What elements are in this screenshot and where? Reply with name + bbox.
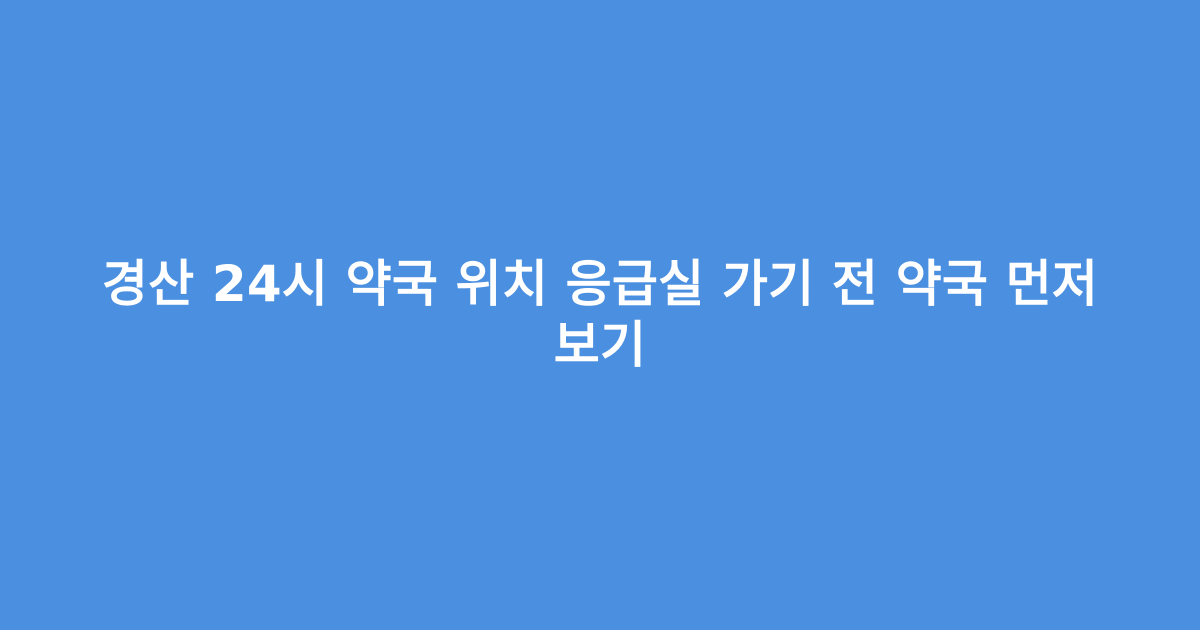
og-card: 경산 24시 약국 위치 응급실 가기 전 약국 먼저 보기: [0, 0, 1200, 630]
page-title: 경산 24시 약국 위치 응급실 가기 전 약국 먼저 보기: [100, 254, 1100, 376]
